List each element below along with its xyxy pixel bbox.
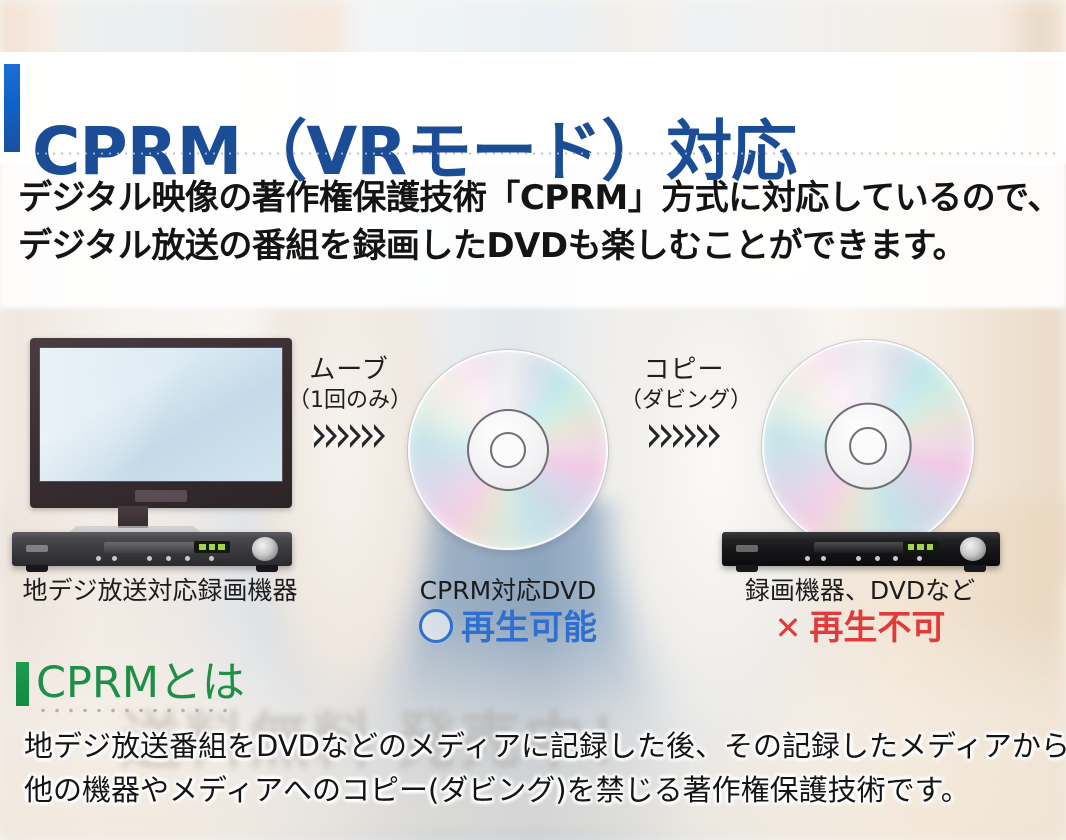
chevron-right-icon	[649, 424, 660, 448]
arrow-group-move: ムーブ （1回のみ）	[288, 354, 410, 448]
chevron-right-icon	[697, 424, 708, 448]
chevron-right-icon	[661, 424, 672, 448]
lead-line-1: デジタル映像の著作権保護技術「CPRM」方式に対応しているので、	[18, 174, 1058, 222]
chevron-right-icon	[362, 424, 373, 448]
recorder-right-logo	[736, 545, 758, 552]
status-playable-label: 再生可能	[461, 608, 597, 648]
cprm-heading-accent-bar	[16, 662, 29, 706]
chevron-right-icon	[673, 424, 684, 448]
flow-diagram: ムーブ （1回のみ） コピー （ダビング）	[0, 320, 1066, 660]
lead-paragraph: デジタル映像の著作権保護技術「CPRM」方式に対応しているので、 デジタル放送の…	[18, 174, 1058, 270]
chevron-right-icon	[709, 424, 720, 448]
recorder-left-buttons	[96, 556, 230, 561]
recorder-right-knob	[960, 537, 986, 560]
tv-stand-neck	[118, 506, 148, 528]
status-playable: 再生可能	[400, 608, 616, 648]
cprm-description-line-1: 地デジ放送番組をDVDなどのメディアに記録した後、その記録したメディアから	[24, 724, 1054, 768]
recorder-left-icon	[12, 532, 292, 566]
arrow-copy-title: コピー	[620, 354, 748, 386]
status-not-playable-label: 再生不可	[809, 608, 945, 648]
disc-hole	[490, 432, 526, 468]
lead-line-2: デジタル放送の番組を録画したDVDも楽しむことができます。	[18, 222, 1058, 270]
recorder-left-display	[194, 541, 230, 553]
chevron-right-icon	[374, 424, 385, 448]
circle-ok-icon	[419, 609, 453, 643]
tv-screen	[39, 347, 283, 482]
title-dotted-divider	[34, 152, 1056, 155]
dvd-disc-right	[762, 340, 974, 552]
recorder-right-buttons	[805, 556, 938, 561]
recorder-right-tray	[814, 542, 909, 554]
disc-hole	[849, 427, 887, 465]
chevron-right-icon	[338, 424, 349, 448]
caption-right-device: 録画機器、DVDなど	[720, 576, 1000, 606]
status-not-playable: ✕再生不可	[720, 608, 1000, 648]
chevron-right-icon	[350, 424, 361, 448]
recorder-right-display	[903, 541, 939, 553]
arrow-copy-subtitle: （ダビング）	[620, 386, 748, 416]
cprm-dotted-divider	[36, 708, 236, 713]
chevron-right-icon	[685, 424, 696, 448]
recorder-left-feet	[12, 565, 292, 572]
caption-left-device: 地デジ放送対応録画機器	[10, 576, 310, 606]
infographic-page: 送料無料 発売中！ CPRM（VRモード）対応 デジタル映像の著作権保護技術「C…	[0, 0, 1066, 840]
chevron-right-icon	[326, 424, 337, 448]
recorder-right-icon	[722, 532, 1000, 566]
arrow-move-subtitle: （1回のみ）	[288, 386, 410, 416]
cprm-heading: CPRMとは	[36, 656, 245, 710]
dvd-disc-center	[408, 350, 608, 550]
cprm-description-line-2: 他の機器やメディアへのコピー(ダビング)を禁じる著作権保護技術です。	[24, 768, 1054, 812]
recorder-left-tray	[104, 542, 199, 554]
cprm-description: 地デジ放送番組をDVDなどのメディアに記録した後、その記録したメディアから 他の…	[24, 724, 1054, 812]
cross-ng-icon: ✕	[775, 608, 802, 648]
tv-chin	[135, 490, 187, 502]
chevron-right-icon-group-copy	[620, 424, 748, 448]
recorder-right-feet	[722, 565, 1000, 572]
recorder-left-logo	[26, 545, 48, 552]
caption-center-disc: CPRM対応DVD	[400, 576, 616, 606]
television-icon	[30, 338, 292, 508]
recorder-left-knob	[252, 537, 278, 560]
arrow-group-copy: コピー （ダビング）	[620, 354, 748, 448]
arrow-move-title: ムーブ	[288, 354, 410, 386]
title-accent-bar	[4, 64, 20, 152]
chevron-right-icon	[314, 424, 325, 448]
chevron-right-icon-group-move	[288, 424, 410, 448]
